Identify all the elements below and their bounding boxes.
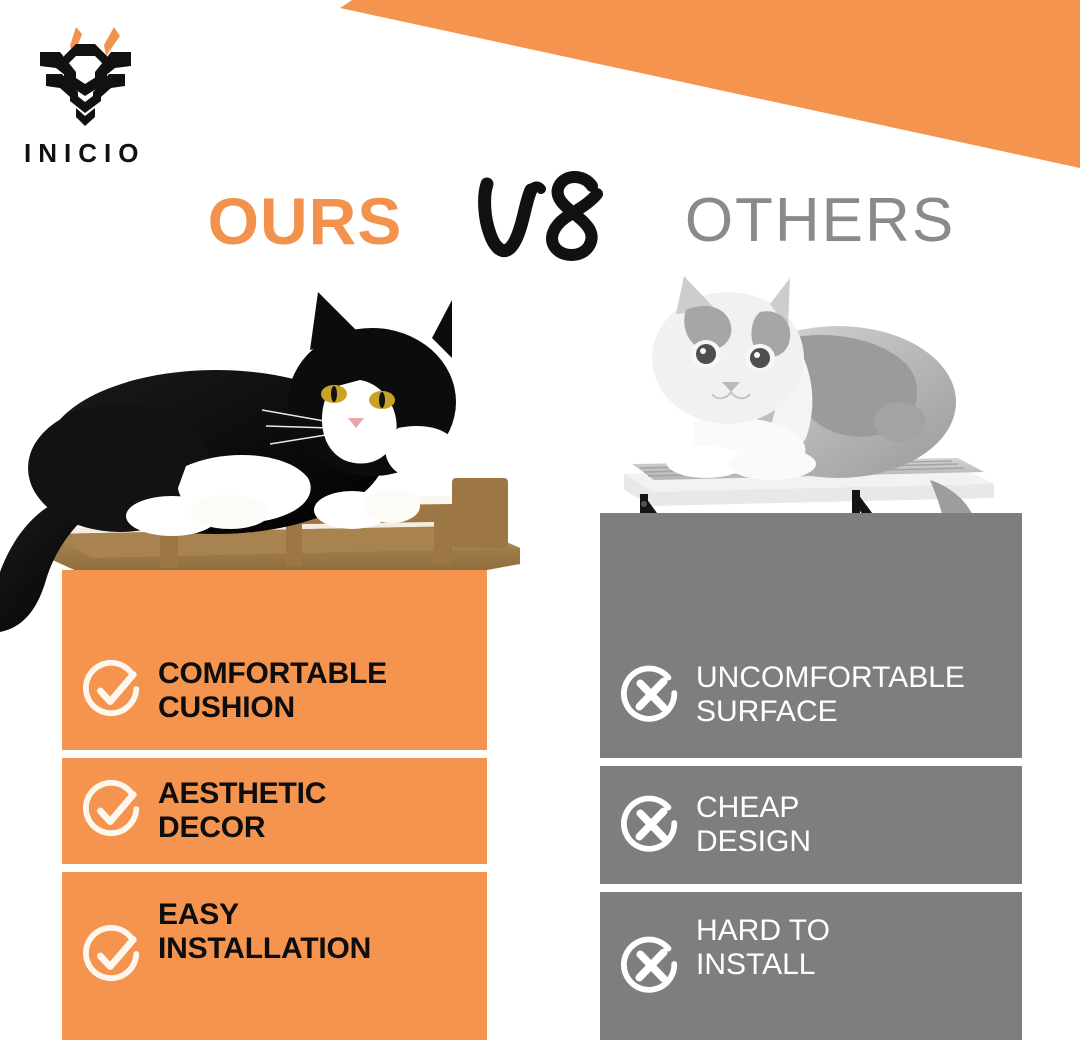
ours-feature-label: EASY INSTALLATION	[158, 898, 487, 966]
headline-vs: VS	[452, 166, 632, 279]
others-feature-row[interactable]: UNCOMFORTABLE SURFACE	[600, 632, 1022, 758]
brand-wordmark: INICIO	[24, 138, 174, 169]
headline-others: OTHERS	[660, 176, 980, 266]
headline: OURS VS OTHERS	[0, 176, 1080, 272]
ours-feature-label: AESTHETIC DECOR	[158, 777, 487, 845]
ours-feature-row[interactable]: COMFORTABLE CUSHION	[62, 632, 487, 750]
vs-script-icon	[457, 166, 627, 274]
bee-logo-icon	[32, 22, 142, 132]
others-feature-label: HARD TO INSTALL	[696, 914, 1022, 982]
ours-feature-label: COMFORTABLE CUSHION	[158, 657, 487, 725]
circle-check-icon	[82, 780, 144, 842]
ours-feature-list: COMFORTABLE CUSHION AESTHETIC DECOR EASY…	[62, 570, 487, 1040]
others-feature-row[interactable]: HARD TO INSTALL	[600, 892, 1022, 1040]
ours-column: COMFORTABLE CUSHION AESTHETIC DECOR EASY…	[62, 570, 487, 1040]
circle-x-icon	[620, 664, 682, 726]
others-feature-row[interactable]: CHEAP DESIGN	[600, 766, 1022, 884]
row-separator	[62, 750, 487, 758]
ours-feature-row[interactable]: AESTHETIC DECOR	[62, 758, 487, 864]
ours-feature-row[interactable]: EASY INSTALLATION	[62, 872, 487, 1040]
circle-check-icon	[82, 925, 144, 987]
circle-x-icon	[620, 794, 682, 856]
headline-ours: OURS	[160, 176, 450, 266]
others-feature-label: UNCOMFORTABLE SURFACE	[696, 661, 1022, 729]
comparison-infographic: INICIO OURS VS OTHERS	[0, 0, 1080, 1040]
circle-check-icon	[82, 660, 144, 722]
row-separator	[62, 864, 487, 872]
row-separator	[600, 884, 1022, 892]
row-separator	[600, 758, 1022, 766]
brand-logo: INICIO	[24, 22, 174, 169]
others-feature-label: CHEAP DESIGN	[696, 791, 1022, 859]
others-column: UNCOMFORTABLE SURFACE CHEAP DESIGN HAR	[600, 513, 1022, 1040]
circle-x-icon	[620, 935, 682, 997]
others-feature-list: UNCOMFORTABLE SURFACE CHEAP DESIGN HAR	[600, 513, 1022, 1040]
